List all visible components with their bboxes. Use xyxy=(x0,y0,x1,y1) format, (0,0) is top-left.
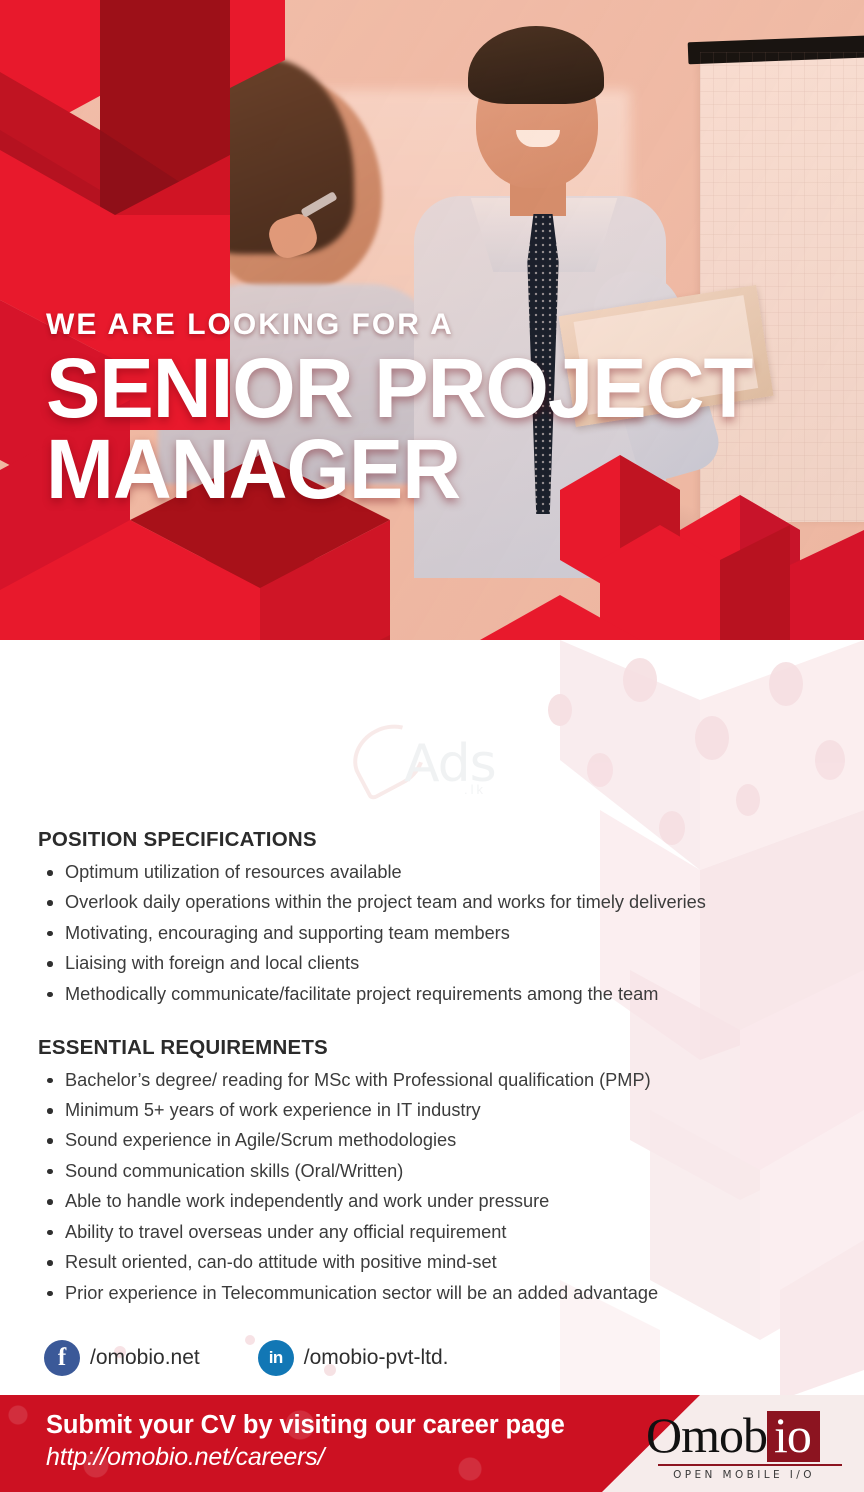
footer-text-block: Submit your CV by visiting our career pa… xyxy=(46,1411,565,1472)
list-item: Methodically communicate/facilitate proj… xyxy=(38,983,826,1006)
cta-text: Submit your CV by visiting our career pa… xyxy=(46,1411,565,1440)
list-item: Optimum utilization of resources availab… xyxy=(38,861,826,884)
hero-banner: WE ARE LOOKING FOR A SENIOR PROJECT MANA… xyxy=(0,0,864,700)
logo-name-main: Omob xyxy=(646,1411,767,1460)
logo-divider xyxy=(658,1464,842,1466)
hero-kicker: WE ARE LOOKING FOR A xyxy=(46,308,836,342)
section-heading: ESSENTIAL REQUIREMNETS xyxy=(38,1036,826,1060)
linkedin-link[interactable]: in /omobio-pvt-ltd. xyxy=(258,1340,449,1376)
facebook-handle: /omobio.net xyxy=(90,1346,200,1370)
job-title-line-2: MANAGER xyxy=(46,429,812,510)
job-ad-poster: WE ARE LOOKING FOR A SENIOR PROJECT MANA… xyxy=(0,0,864,1492)
section-heading: POSITION SPECIFICATIONS xyxy=(38,828,826,852)
logo-name-accent: io xyxy=(767,1411,820,1462)
list-item: Overlook daily operations within the pro… xyxy=(38,891,826,914)
list-item: Result oriented, can-do attitude with po… xyxy=(38,1251,826,1274)
list-item: Minimum 5+ years of work experience in I… xyxy=(38,1099,826,1122)
linkedin-icon[interactable]: in xyxy=(258,1340,294,1376)
position-specifications-section: POSITION SPECIFICATIONS Optimum utilizat… xyxy=(0,828,864,1006)
facebook-link[interactable]: f /omobio.net xyxy=(44,1340,200,1376)
logo-tagline: OPEN MOBILE I/O xyxy=(646,1469,842,1481)
job-title-line-1: SENIOR PROJECT xyxy=(46,348,812,429)
list-item: Motivating, encouraging and supporting t… xyxy=(38,922,826,945)
social-links: f /omobio.net in /omobio-pvt-ltd. xyxy=(44,1340,448,1376)
headline-block: WE ARE LOOKING FOR A SENIOR PROJECT MANA… xyxy=(46,308,836,509)
essential-requirements-list: Bachelor’s degree/ reading for MSc with … xyxy=(38,1069,826,1305)
essential-requirements-section: ESSENTIAL REQUIREMNETS Bachelor’s degree… xyxy=(0,1036,864,1305)
list-item: Sound communication skills (Oral/Written… xyxy=(38,1160,826,1183)
logo-wordmark: Omob io xyxy=(646,1411,842,1462)
linkedin-handle: /omobio-pvt-ltd. xyxy=(304,1346,449,1370)
omobio-logo: Omob io OPEN MOBILE I/O xyxy=(646,1411,842,1481)
list-item: Ability to travel overseas under any off… xyxy=(38,1221,826,1244)
job-details: POSITION SPECIFICATIONS Optimum utilizat… xyxy=(0,828,864,1312)
footer-bar: Submit your CV by visiting our career pa… xyxy=(0,1395,864,1492)
list-item: Bachelor’s degree/ reading for MSc with … xyxy=(38,1069,826,1092)
position-specifications-list: Optimum utilization of resources availab… xyxy=(38,861,826,1006)
list-item: Prior experience in Telecommunication se… xyxy=(38,1282,826,1305)
list-item: Able to handle work independently and wo… xyxy=(38,1190,826,1213)
careers-url[interactable]: http://omobio.net/careers/ xyxy=(46,1443,565,1472)
facebook-icon[interactable]: f xyxy=(44,1340,80,1376)
list-item: Sound experience in Agile/Scrum methodol… xyxy=(38,1129,826,1152)
list-item: Liaising with foreign and local clients xyxy=(38,952,826,975)
